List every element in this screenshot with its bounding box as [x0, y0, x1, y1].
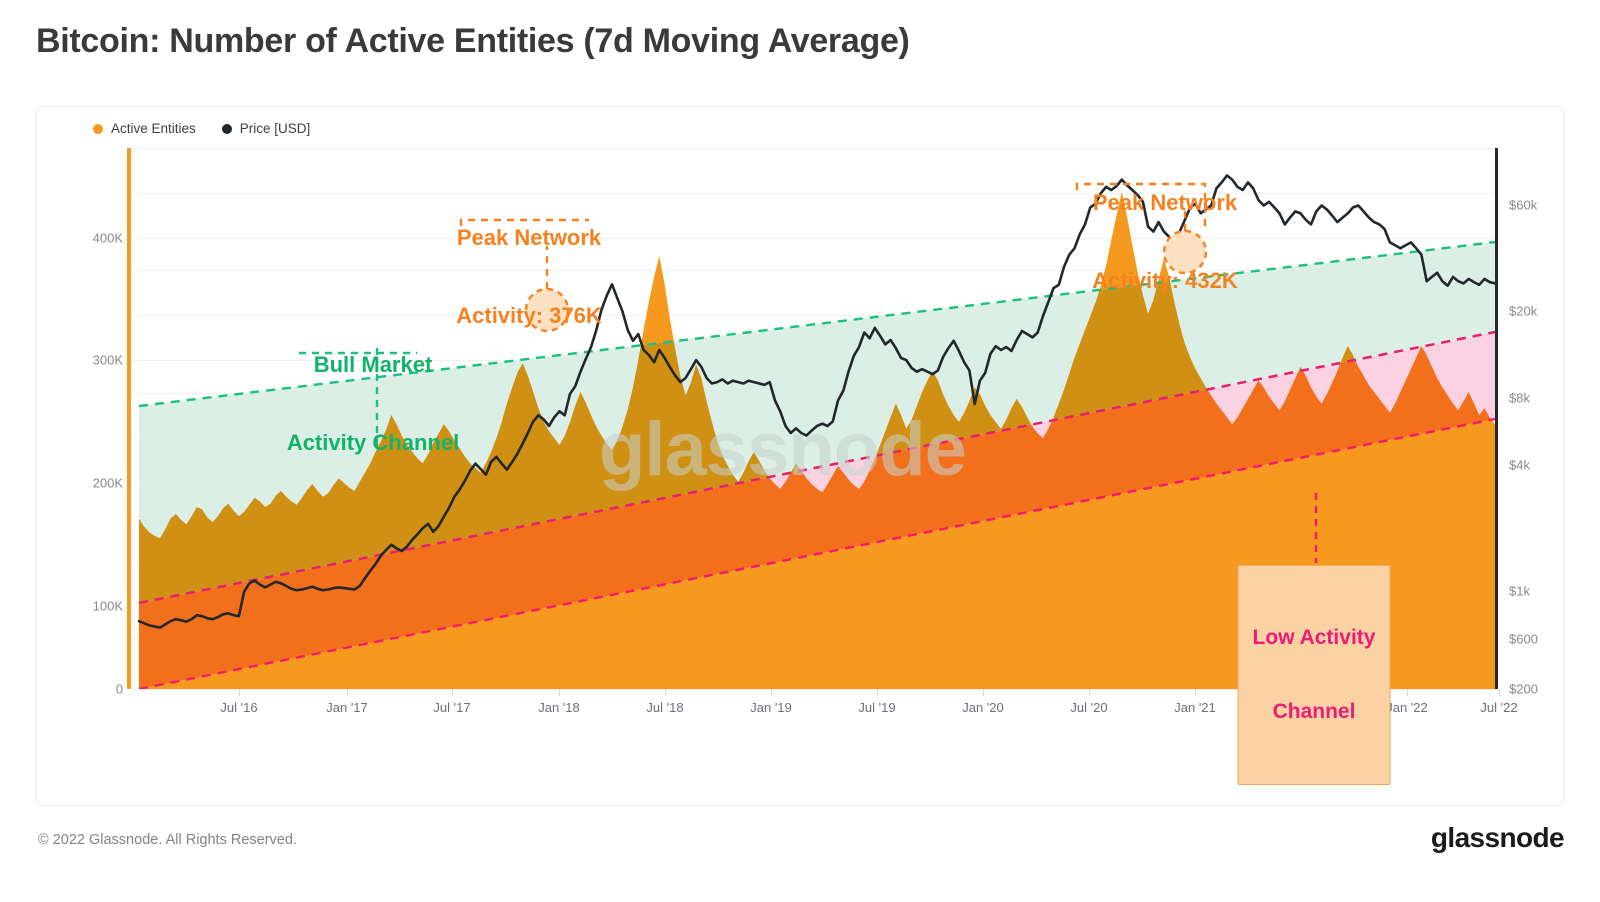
- annotation-low-channel-line2: Channel: [1253, 700, 1376, 725]
- xlabel-0: Jul '16: [220, 700, 257, 715]
- ylabel-right-600: $600: [1509, 632, 1538, 647]
- xlabel-11: Jan '22: [1386, 700, 1428, 715]
- ylabel-right-8k: $8k: [1509, 391, 1530, 406]
- annotation-peak-2021-line1: Peak Network: [1092, 190, 1238, 216]
- legend-label-price: Price [USD]: [240, 121, 311, 136]
- ylabel-left-400k: 400K: [33, 231, 123, 246]
- annotation-low-channel-line1: Low Activity: [1253, 626, 1376, 651]
- annotation-peak-2021: Peak Network Activity: 432K: [1092, 138, 1238, 346]
- xlabel-12: Jul '22: [1480, 700, 1517, 715]
- xlabel-8: Jul '20: [1070, 700, 1107, 715]
- footer-copyright: © 2022 Glassnode. All Rights Reserved.: [38, 832, 297, 848]
- xlabel-7: Jan '20: [962, 700, 1004, 715]
- ylabel-left-300k: 300K: [33, 353, 123, 368]
- ylabel-right-200: $200: [1509, 682, 1538, 697]
- chart-page: Bitcoin: Number of Active Entities (7d M…: [0, 0, 1600, 902]
- annotation-bull-channel-line1: Bull Market: [287, 352, 459, 378]
- ylabel-left-200k: 200K: [33, 476, 123, 491]
- legend-swatch-active-entities: [93, 124, 103, 134]
- legend-item-active-entities[interactable]: Active Entities: [93, 121, 196, 136]
- annotation-peak-2017-line1: Peak Network: [456, 225, 602, 251]
- ylabel-left-0: 0: [33, 682, 123, 697]
- ylabel-right-1k: $1k: [1509, 584, 1530, 599]
- annotation-peak-2021-line2: Activity: 432K: [1092, 268, 1238, 294]
- xlabel-4: Jul '18: [646, 700, 683, 715]
- xlabel-6: Jul '19: [858, 700, 895, 715]
- annotation-low-channel: Low Activity Channel: [1238, 565, 1391, 785]
- ylabel-right-4k: $4k: [1509, 458, 1530, 473]
- y-axis-left-line: [127, 148, 131, 689]
- legend-label-active-entities: Active Entities: [111, 121, 196, 136]
- annotation-bull-channel-line2: Activity Channel: [287, 430, 459, 456]
- xlabel-5: Jan '19: [750, 700, 792, 715]
- plot-area: glassnode 0 100K 200K 300K 400K $200 $60…: [89, 148, 1498, 736]
- annotation-peak-2017-line2: Activity: 376K: [456, 303, 602, 329]
- xlabel-2: Jul '17: [433, 700, 470, 715]
- chart-card: Active Entities Price [USD]: [36, 106, 1564, 806]
- chart-legend: Active Entities Price [USD]: [93, 121, 310, 136]
- legend-swatch-price: [222, 124, 232, 134]
- xlabel-9: Jan '21: [1174, 700, 1216, 715]
- legend-item-price[interactable]: Price [USD]: [222, 121, 311, 136]
- ylabel-right-60k: $60k: [1509, 198, 1537, 213]
- annotation-peak-2017: Peak Network Activity: 376K: [456, 173, 602, 381]
- y-axis-right-line: [1495, 148, 1498, 689]
- ylabel-left-100k: 100K: [33, 599, 123, 614]
- xlabel-3: Jan '18: [538, 700, 580, 715]
- xlabel-1: Jan '17: [326, 700, 368, 715]
- page-title: Bitcoin: Number of Active Entities (7d M…: [36, 22, 910, 61]
- footer-logo: glassnode: [1431, 822, 1564, 854]
- ylabel-right-20k: $20k: [1509, 304, 1537, 319]
- annotation-bull-channel: Bull Market Activity Channel: [287, 300, 459, 508]
